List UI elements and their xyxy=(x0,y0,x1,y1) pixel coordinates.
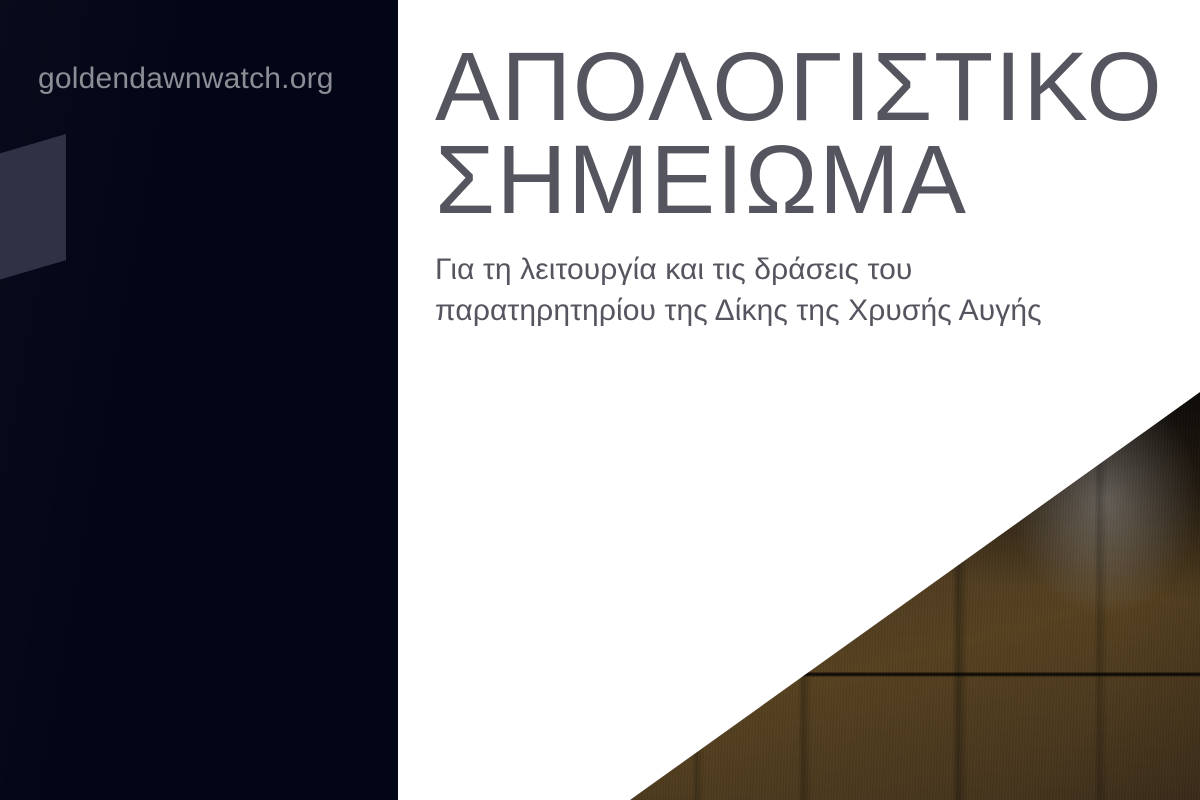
page-subtitle-line-2: παρατηρητηρίου της Δίκης της Χρυσής Αυγή… xyxy=(435,290,1195,331)
slanted-parallelogram-decoration xyxy=(0,134,66,286)
report-cover: goldendawnwatch.org ΑΠΟΛΟΓΙΣΤΙΚΟ ΣΗΜΕΙΩΜ… xyxy=(0,0,1200,800)
site-url-text: goldendawnwatch.org xyxy=(38,62,334,96)
left-dark-panel: goldendawnwatch.org xyxy=(0,0,398,800)
page-subtitle-line-1: Για τη λειτουργία και τις δράσεις του xyxy=(435,249,1195,290)
page-subtitle: Για τη λειτουργία και τις δράσεις του πα… xyxy=(435,249,1195,331)
title-block: ΑΠΟΛΟΓΙΣΤΙΚΟ ΣΗΜΕΙΩΜΑ Για τη λειτουργία … xyxy=(435,40,1195,331)
page-title-line-1: ΑΠΟΛΟΓΙΣΤΙΚΟ xyxy=(435,40,1195,133)
page-title-line-2: ΣΗΜΕΙΩΜΑ xyxy=(435,133,1195,226)
page-title: ΑΠΟΛΟΓΙΣΤΙΚΟ ΣΗΜΕΙΩΜΑ xyxy=(435,40,1195,226)
